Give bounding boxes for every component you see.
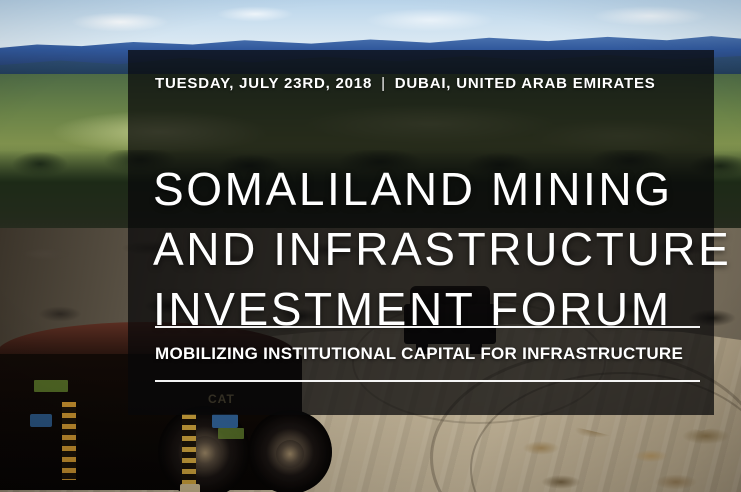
event-title: SOMALILAND MINING AND INFRASTRUCTURE INV… <box>153 159 713 339</box>
event-location: DUBAI, UNITED ARAB EMIRATES <box>395 75 656 92</box>
divider-below-tagline <box>155 380 700 382</box>
title-line-1: SOMALILAND MINING <box>153 159 713 219</box>
event-date-location: TUESDAY, JULY 23RD, 2018|DUBAI, UNITED A… <box>155 75 656 92</box>
divider-above-tagline <box>155 326 700 328</box>
title-line-2: AND INFRASTRUCTURE <box>153 219 713 279</box>
event-date: TUESDAY, JULY 23RD, 2018 <box>155 75 372 92</box>
eyebrow-separator: | <box>372 75 395 92</box>
event-tagline: MOBILIZING INSTITUTIONAL CAPITAL FOR INF… <box>155 344 683 364</box>
title-line-3: INVESTMENT FORUM <box>153 279 713 339</box>
banner-content: TUESDAY, JULY 23RD, 2018|DUBAI, UNITED A… <box>155 50 700 415</box>
event-banner: CAT TUESDAY, JULY 23RD, 2018|DUBAI, UNIT… <box>0 0 741 492</box>
